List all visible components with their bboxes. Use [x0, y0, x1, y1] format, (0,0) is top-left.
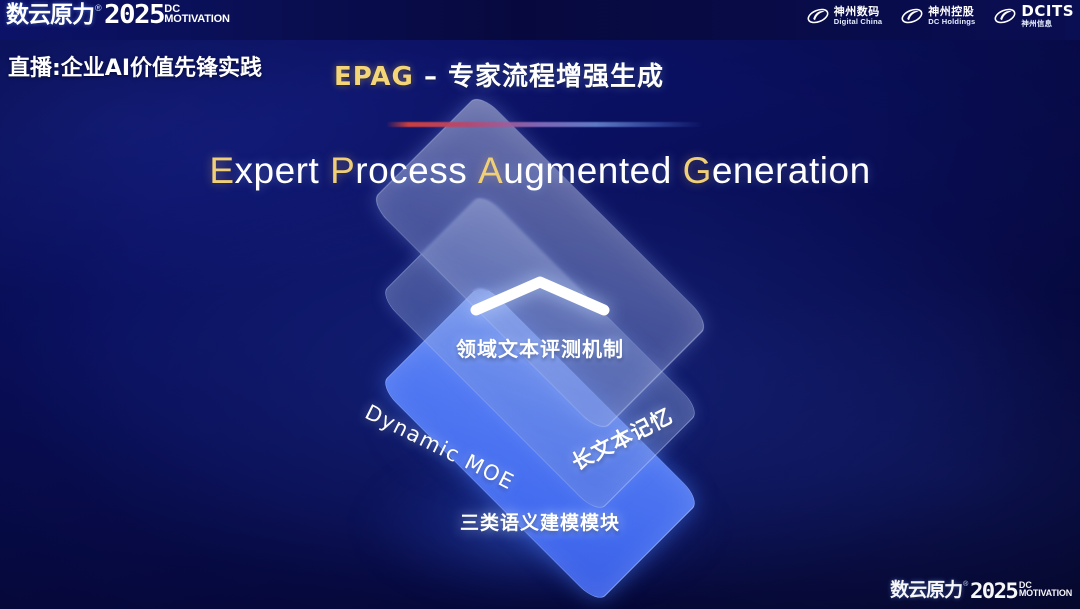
footer-registered-mark-icon: ®	[963, 579, 968, 590]
subtitle-rest-generation: eneration	[712, 150, 871, 191]
subtitle-cap-g: G	[683, 150, 712, 191]
subtitle-cap-p: P	[330, 150, 355, 191]
footer-brand-year: 2025	[970, 579, 1017, 603]
footer-brand-watermark: 数云原力 ® 2025 DC MOTIVATION	[890, 579, 1072, 605]
registered-mark-icon: ®	[95, 1, 102, 15]
partner-name-cn: 神州数码	[834, 6, 882, 17]
slide-title-rest: – 专家流程增强生成	[414, 62, 664, 92]
swirl-icon	[806, 5, 830, 27]
subtitle-space-1	[319, 150, 330, 191]
partner-name-cn: 神州控股	[928, 6, 975, 17]
partner-name-en: Digital China	[834, 18, 882, 26]
partner-name-en: DC Holdings	[928, 18, 975, 26]
brand-logo: 数云原力 ® 2025 DC MOTIVATION	[6, 1, 230, 31]
chevron-up-icon	[466, 272, 614, 318]
slide-canvas: 领域文本评测机制 Dynamic MOE 长文本记忆 三类语义建模模块 数云原力…	[0, 0, 1080, 609]
partner-logo-digital-china: 神州数码 Digital China	[806, 5, 882, 27]
partner-logo-dcits: DCITS 神州信息	[993, 4, 1074, 28]
swirl-icon	[900, 5, 924, 27]
brand-name-cn: 数云原力	[6, 1, 94, 29]
subtitle-cap-a: A	[478, 150, 503, 191]
footer-brand-dc-motivation: DC MOTIVATION	[1019, 579, 1072, 598]
partner-name-cn: 神州信息	[1021, 20, 1074, 28]
subtitle-cap-e: E	[209, 150, 234, 191]
brand-year: 2025	[104, 1, 164, 30]
partner-label: 神州数码 Digital China	[834, 6, 882, 26]
slide-title: EPAG – 专家流程增强生成	[334, 56, 664, 93]
partner-label: DCITS 神州信息	[1021, 4, 1074, 28]
live-stream-title: 直播:企业AI价值先锋实践	[8, 50, 262, 82]
partner-logo-group: 神州数码 Digital China 神州控股 DC Holdings	[806, 4, 1074, 28]
subtitle-space-2	[467, 150, 478, 191]
subtitle-rest-expert: xpert	[235, 150, 320, 191]
english-subtitle: Expert Process Augmented Generation	[0, 150, 1080, 192]
swirl-icon	[993, 5, 1017, 27]
gradient-divider	[386, 122, 704, 127]
partner-label: 神州控股 DC Holdings	[928, 6, 975, 26]
footer-dc-line2: MOTIVATION	[1019, 589, 1072, 598]
brand-dc-motivation: DC MOTIVATION	[164, 1, 229, 25]
brand-dc-line2: MOTIVATION	[164, 14, 229, 25]
partner-logo-dc-holdings: 神州控股 DC Holdings	[900, 5, 975, 27]
subtitle-rest-process: rocess	[355, 150, 467, 191]
partner-name-en-brand: DCITS	[1021, 4, 1074, 19]
subtitle-rest-augmented: ugmented	[503, 150, 672, 191]
slide-title-acronym: EPAG	[334, 62, 414, 92]
subtitle-space-3	[672, 150, 683, 191]
footer-brand-name-cn: 数云原力	[890, 579, 962, 602]
layer-top-label: 领域文本评测机制	[0, 333, 1080, 362]
layer-bottom-label: 三类语义建模模块	[0, 508, 1080, 535]
